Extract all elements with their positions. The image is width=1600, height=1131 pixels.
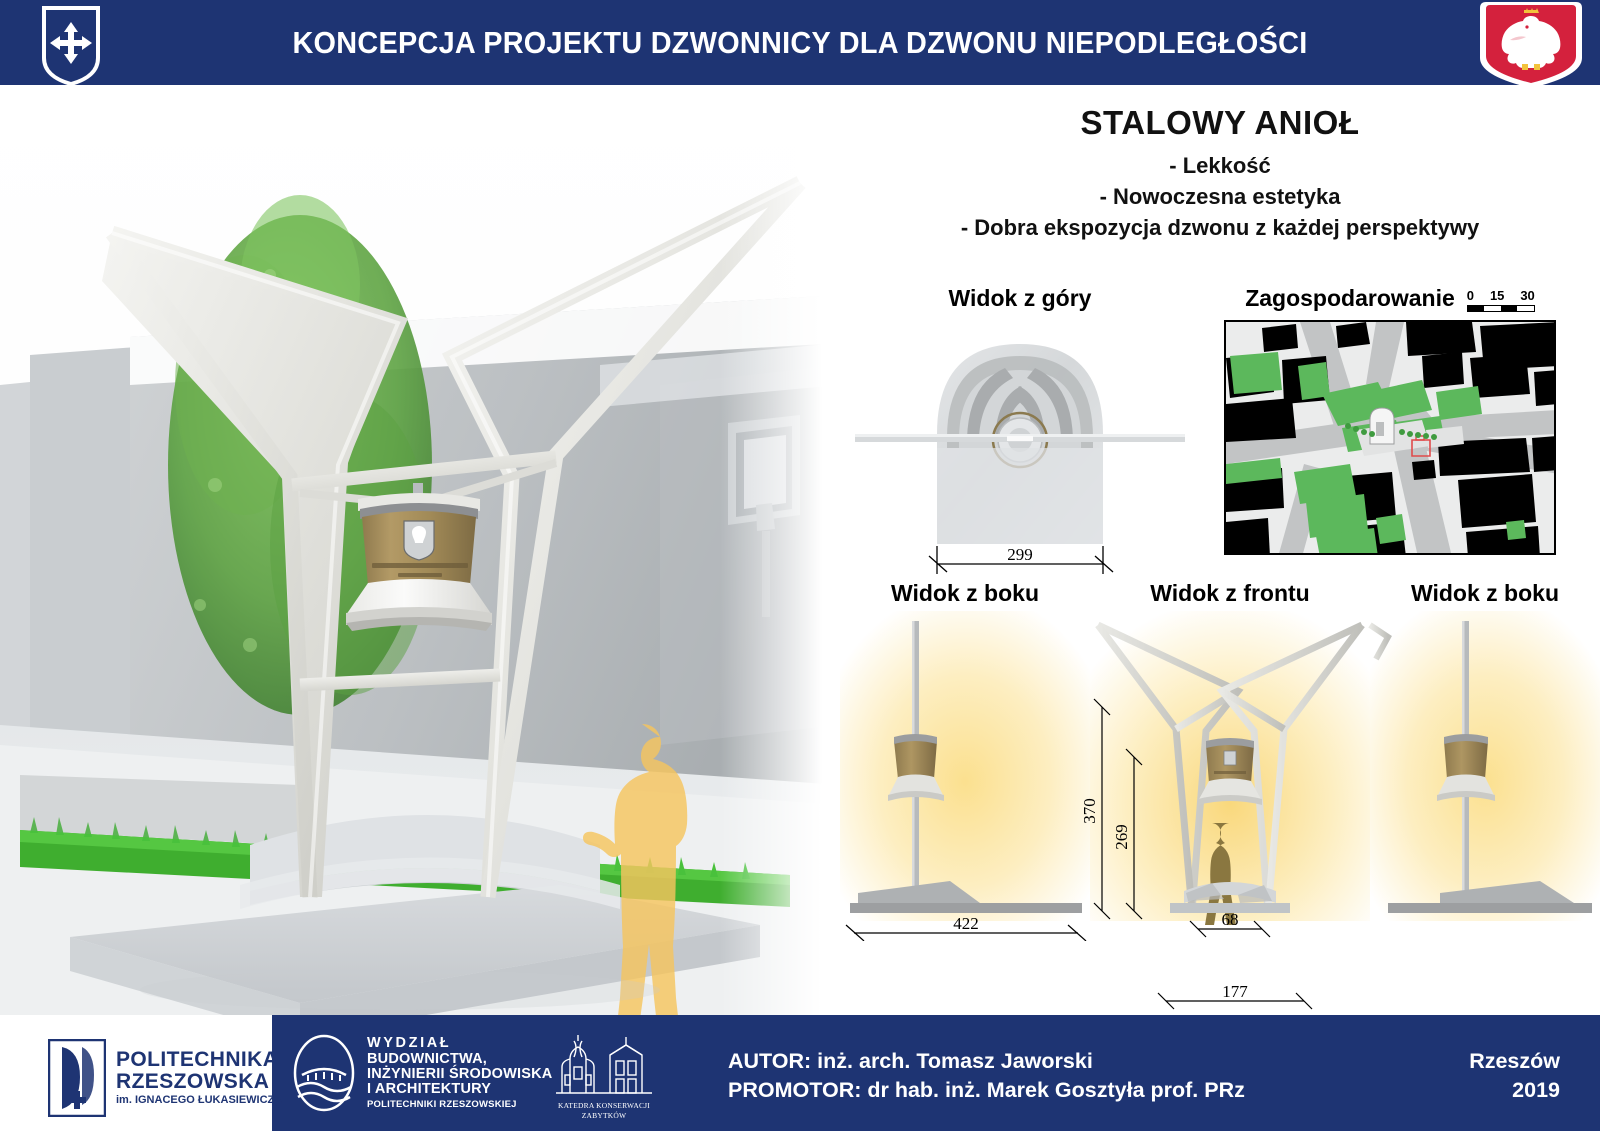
top-view-drawing: 299 (855, 312, 1185, 577)
promoter-line: PROMOTOR: dr hab. inż. Marek Gosztyła pr… (728, 1076, 1245, 1105)
year-label: 2019 (1469, 1076, 1560, 1105)
university-line-3: im. IGNACEGO ŁUKASIEWICZA (116, 1095, 282, 1106)
faculty-logo: WYDZIAŁ BUDOWNICTWA, INŻYNIERII ŚRODOWIS… (292, 1033, 552, 1113)
concept-name: STALOWY ANIOŁ (840, 104, 1600, 142)
dimension-370: 370 (1080, 798, 1099, 824)
dimension-269: 269 (1112, 824, 1131, 850)
department-logo: KATEDRA KONSERWACJI ZABYTKÓW (548, 1033, 660, 1121)
concept-bullet-2: - Dobra ekspozycja dzwonu z każdej persp… (840, 212, 1600, 243)
bell (346, 483, 492, 631)
page-title: KONCEPCJA PROJEKTU DZWONNICY DLA DZWONU … (56, 25, 1544, 61)
author-line: AUTOR: inż. arch. Tomasz Jaworski (728, 1047, 1245, 1076)
university-logo: POLITECHNIKA RZESZOWSKA im. IGNACEGO ŁUK… (48, 1039, 282, 1117)
faculty-mark-icon (292, 1033, 356, 1113)
elevations-drawing: 422 (840, 611, 1600, 941)
faculty-line-4: I ARCHITEKTURY (367, 1082, 552, 1097)
dimension-177-block: 177 (1140, 975, 1330, 1020)
site-plan-map (1224, 320, 1556, 555)
scale-tick-2: 30 (1520, 288, 1534, 303)
faculty-line-1: WYDZIAŁ (367, 1036, 552, 1051)
scale-tick-1: 15 (1490, 288, 1504, 303)
faculty-line-3: INŻYNIERII ŚRODOWISKA (367, 1067, 552, 1082)
dimension-422: 422 (953, 914, 979, 933)
right-content-panel: STALOWY ANIOŁ - Lekkość - Nowoczesna est… (840, 85, 1600, 1015)
top-view-label: Widok z góry (855, 285, 1185, 312)
dimension-68: 68 (1222, 910, 1239, 929)
elevations-block: Widok z boku Widok z frontu Widok z boku (840, 580, 1600, 941)
polish-eagle-emblem-icon (1480, 2, 1582, 88)
page-header: KONCEPCJA PROJEKTU DZWONNICY DLA DZWONU … (0, 0, 1600, 85)
scale-tick-0: 0 (1467, 288, 1474, 303)
faculty-line-2: BUDOWNICTWA, (367, 1052, 552, 1067)
site-plan-block: Zagospodarowanie 0 15 30 (1180, 285, 1600, 555)
elevation-side-right (1370, 611, 1600, 921)
author-credits: AUTOR: inż. arch. Tomasz Jaworski PROMOT… (728, 1047, 1245, 1105)
top-view-dimension-label: 299 (1007, 545, 1033, 564)
department-line-1: KATEDRA KONSERWACJI (548, 1101, 660, 1110)
top-view-block: Widok z góry (855, 285, 1185, 577)
dimension-177: 177 (1222, 982, 1248, 1001)
university-line-1: POLITECHNIKA (116, 1049, 282, 1071)
place-and-year: Rzeszów 2019 (1469, 1047, 1560, 1105)
concept-bullet-1: - Nowoczesna estetyka (840, 181, 1600, 212)
university-line-2: RZESZOWSKA (116, 1071, 282, 1093)
render-svg (0, 85, 840, 1015)
site-plan-scale-bar: 0 15 30 (1467, 288, 1535, 312)
heritage-building-icon (548, 1033, 660, 1095)
elevation-front: 370 269 68 (1080, 611, 1370, 937)
site-plan-label: Zagospodarowanie (1245, 285, 1455, 312)
department-line-2: ZABYTKÓW (548, 1111, 660, 1120)
concept-bullet-0: - Lekkość (840, 150, 1600, 181)
elevation-label-front: Widok z frontu (1090, 580, 1370, 607)
faculty-line-5: POLITECHNIKI RZESZOWSKIEJ (367, 1100, 552, 1110)
main-visualization-render (0, 85, 840, 1015)
concept-bullet-list: - Lekkość - Nowoczesna estetyka - Dobra … (840, 150, 1600, 244)
city-label: Rzeszów (1469, 1047, 1560, 1076)
page-footer: POLITECHNIKA RZESZOWSKA im. IGNACEGO ŁUK… (0, 1015, 1600, 1131)
elevation-label-right: Widok z boku (1370, 580, 1600, 607)
elevation-side-left: 422 (840, 611, 1090, 941)
elevation-label-left: Widok z boku (840, 580, 1090, 607)
prz-mark-icon (48, 1039, 106, 1117)
